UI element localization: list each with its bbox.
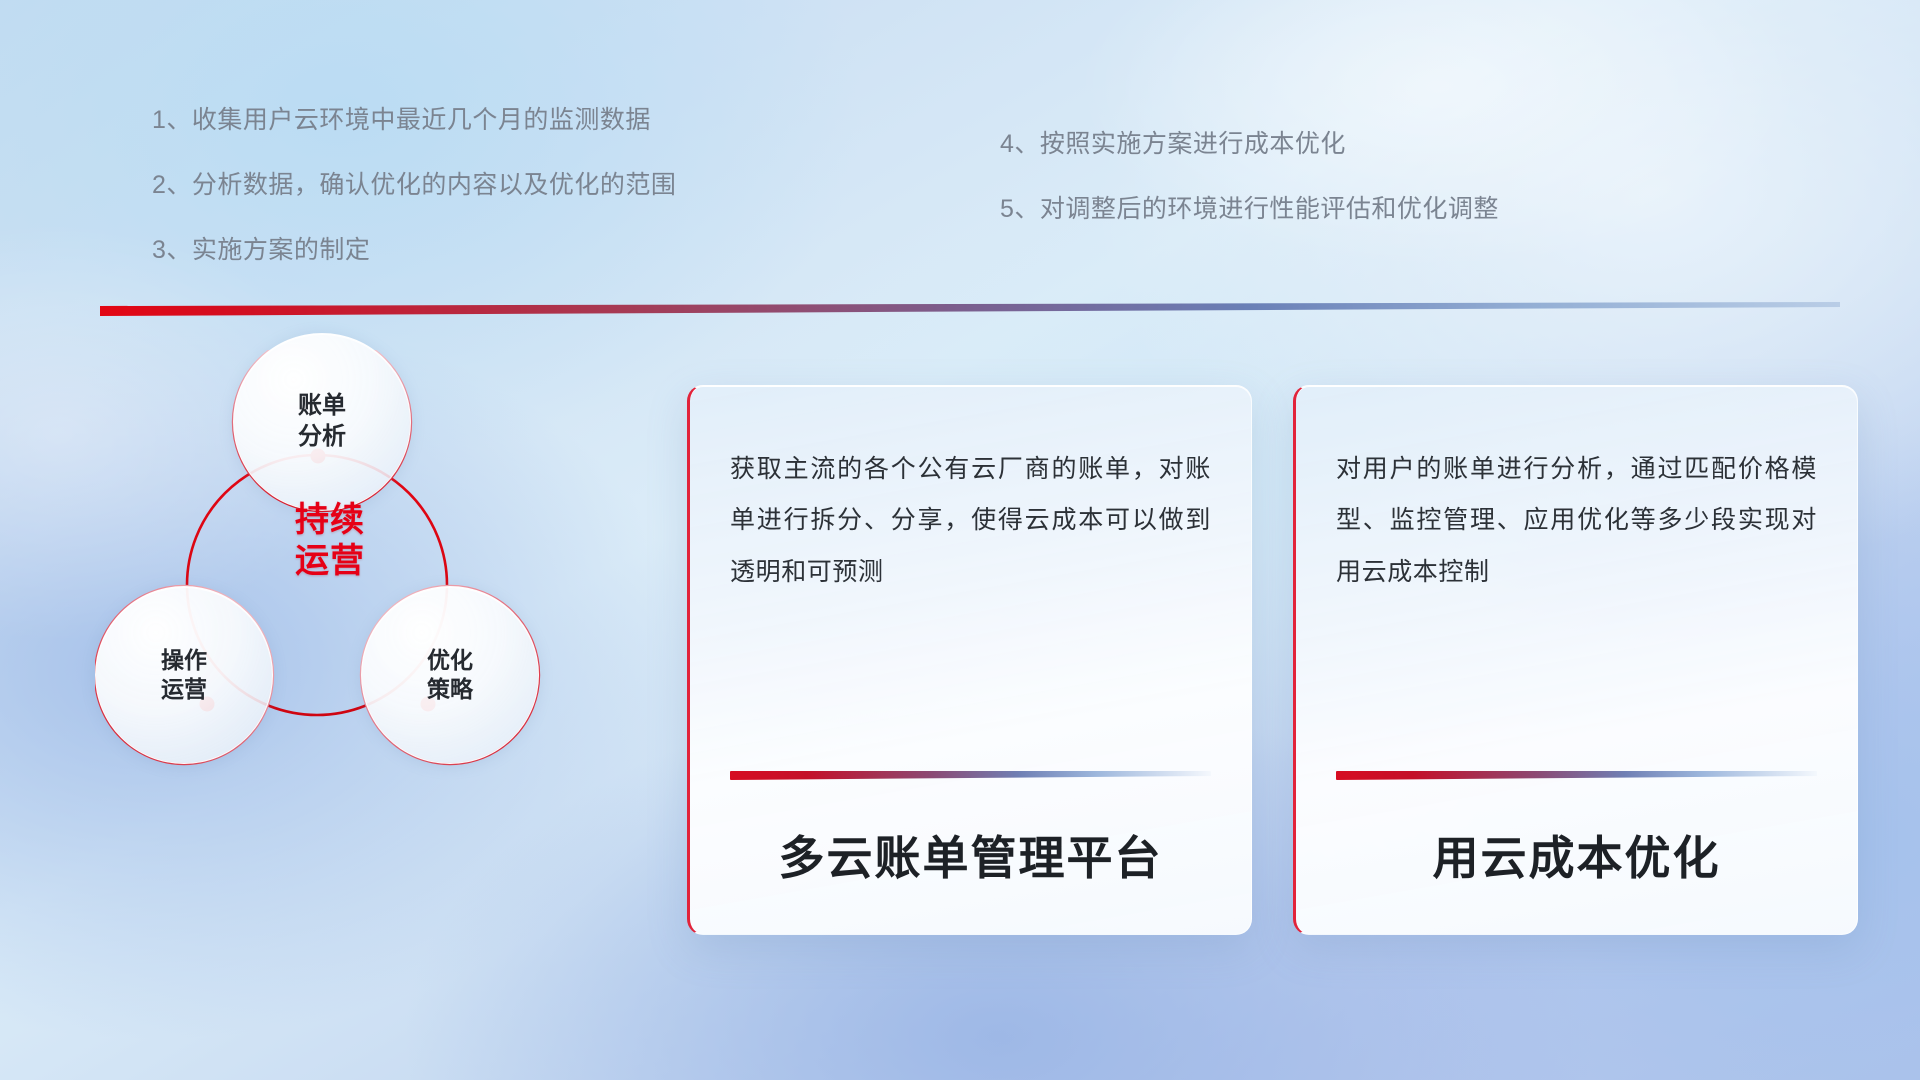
card-body-text: 获取主流的各个公有云厂商的账单，对账单进行拆分、分享，使得云成本可以做到透明和可… [730, 444, 1211, 598]
bubble-label-line2: 分析 [298, 422, 346, 453]
bullet-list-left: 1、收集用户云环境中最近几个月的监测数据 2、分析数据，确认优化的内容以及优化的… [152, 100, 676, 295]
section-divider [100, 302, 1840, 318]
card-accent-rule [730, 771, 1211, 780]
venn-bubble-optimization-strategy[interactable]: 优化 策略 [361, 586, 539, 764]
card-title: 用云成本优化 [1336, 822, 1817, 934]
feature-card-cloud-cost-optimization[interactable]: 对用户的账单进行分析，通过匹配价格模型、监控管理、应用优化等多少段实现对用云成本… [1293, 385, 1858, 935]
feature-card-multicloud-billing[interactable]: 获取主流的各个公有云厂商的账单，对账单进行拆分、分享，使得云成本可以做到透明和可… [687, 385, 1252, 935]
bullet-item: 5、对调整后的环境进行性能评估和优化调整 [1000, 189, 1499, 225]
bubble-label-line2: 策略 [427, 675, 473, 704]
venn-diagram: 账单 分析 操作 运营 优化 策略 持续 运营 [95, 350, 565, 820]
bubble-label-line1: 优化 [427, 646, 473, 675]
card-accent-rule [1336, 771, 1817, 780]
bullet-list-right: 4、按照实施方案进行成本优化 5、对调整后的环境进行性能评估和优化调整 [1000, 124, 1499, 254]
slide-canvas: 1、收集用户云环境中最近几个月的监测数据 2、分析数据，确认优化的内容以及优化的… [0, 0, 1920, 1080]
bubble-label-line1: 操作 [161, 646, 207, 675]
bullet-item: 2、分析数据，确认优化的内容以及优化的范围 [152, 165, 676, 201]
venn-bubble-operations[interactable]: 操作 运营 [95, 586, 273, 764]
venn-bubble-billing-analysis[interactable]: 账单 分析 [233, 333, 411, 511]
bullet-item: 4、按照实施方案进行成本优化 [1000, 124, 1499, 160]
card-title: 多云账单管理平台 [730, 822, 1211, 934]
bullet-item: 1、收集用户云环境中最近几个月的监测数据 [152, 100, 676, 136]
bubble-label-line1: 账单 [298, 391, 346, 422]
card-body-text: 对用户的账单进行分析，通过匹配价格模型、监控管理、应用优化等多少段实现对用云成本… [1336, 444, 1817, 598]
bubble-label-line2: 运营 [161, 675, 207, 704]
bullet-item: 3、实施方案的制定 [152, 230, 676, 266]
